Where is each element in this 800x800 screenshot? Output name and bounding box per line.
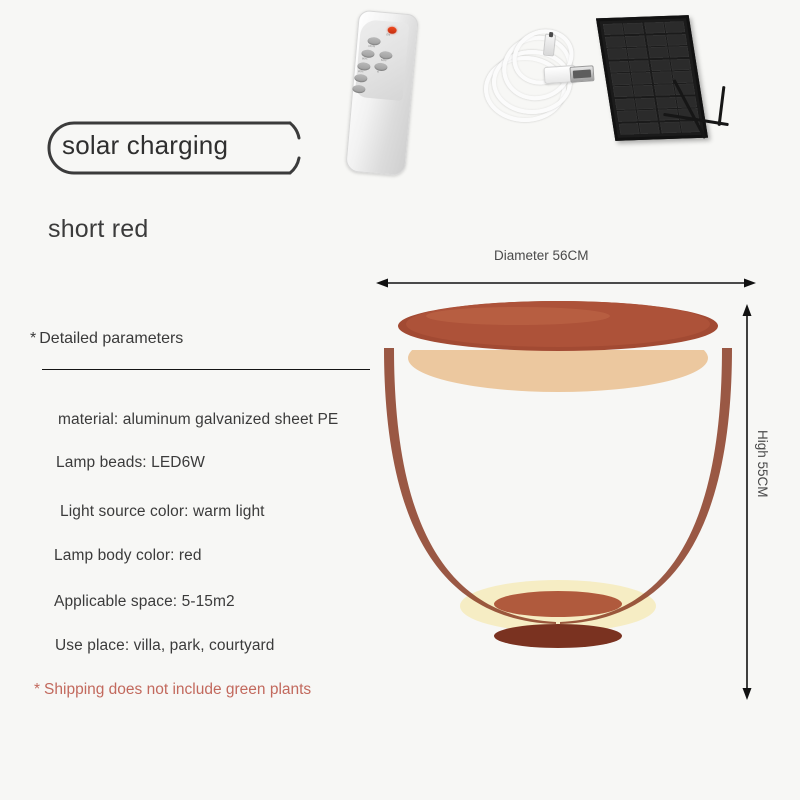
- panel-kickstand-leg: [718, 86, 726, 126]
- diameter-label: Diameter 56CM: [494, 248, 589, 263]
- solar-charging-badge: solar charging: [44, 118, 302, 178]
- remote-label: H: [377, 71, 379, 74]
- product-detail-page: ON 100% 80% 50% H 30%: [0, 0, 800, 800]
- lamp-base: [494, 591, 622, 648]
- shipping-note: *Shipping does not include green plants: [34, 681, 311, 699]
- parameters-divider: [42, 369, 370, 370]
- detailed-parameters-label: Detailed parameters: [39, 330, 183, 347]
- solar-panel-cells: [596, 15, 708, 141]
- usb-a-connector: [569, 65, 594, 83]
- usb-cable-image: [482, 22, 606, 124]
- param-lamp-beads: Lamp beads: LED6W: [56, 454, 205, 472]
- remote-label: ON: [386, 33, 390, 36]
- remote-label: 100%: [368, 45, 375, 49]
- solar-panel-image: [600, 14, 762, 166]
- lamp-top-rim: [382, 300, 734, 372]
- variant-title: short red: [48, 215, 148, 244]
- param-material: material: aluminum galvanized sheet PE: [58, 411, 338, 429]
- remote-control-image: ON 100% 80% 50% H 30%: [338, 8, 434, 180]
- remote-label: 30%: [358, 70, 364, 73]
- remote-label: 50%: [381, 59, 387, 62]
- dc-barrel-tip: [543, 33, 556, 56]
- remote-button-panel: ON 100% 80% 50% H 30%: [355, 19, 410, 101]
- lamp-illustration: [368, 300, 748, 710]
- param-applicable-space: Applicable space: 5-15m2: [54, 593, 235, 611]
- remote-key: [354, 74, 368, 83]
- remote-label: 80%: [362, 57, 368, 60]
- product-image-lamp: [368, 300, 748, 710]
- detailed-parameters-heading: *Detailed parameters: [30, 330, 183, 348]
- asterisk-marker: *: [30, 330, 36, 347]
- solar-charging-label: solar charging: [62, 130, 228, 161]
- asterisk-marker: *: [34, 681, 40, 698]
- param-body-color: Lamp body color: red: [54, 547, 202, 565]
- param-use-place: Use place: villa, park, courtyard: [55, 637, 275, 655]
- shipping-note-text: Shipping does not include green plants: [44, 681, 311, 698]
- param-light-color: Light source color: warm light: [60, 503, 265, 521]
- diameter-arrow: [372, 272, 762, 296]
